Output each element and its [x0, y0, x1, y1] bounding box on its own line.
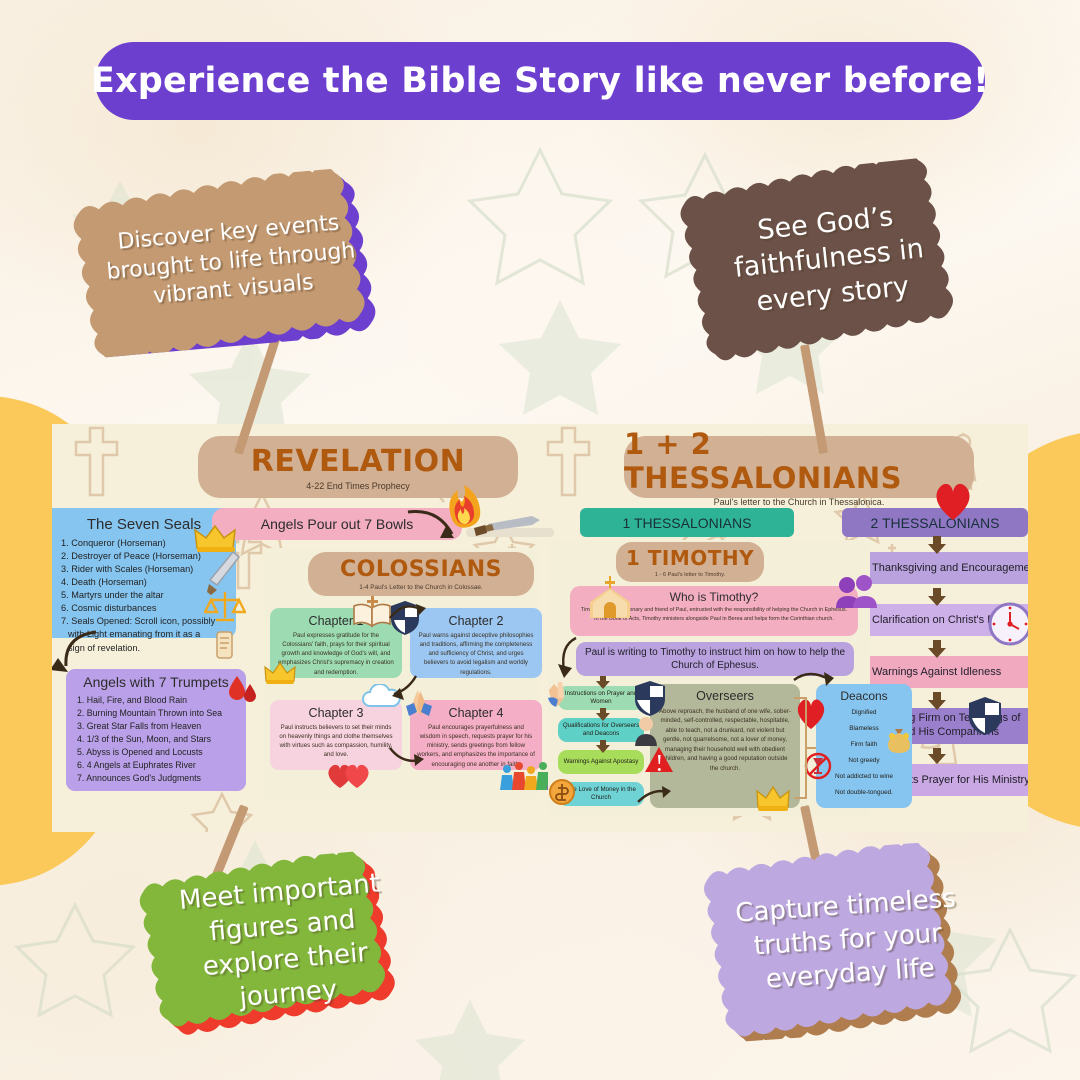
crown-icon [756, 786, 790, 812]
thess2-flow-arrows [924, 536, 950, 784]
arrow-overseers-to-deacons [792, 672, 840, 698]
list-item: Dignified [816, 705, 912, 721]
book-subtitle: Paul's letter to the Church in Thessalon… [714, 497, 885, 507]
person-icon [632, 716, 660, 746]
church-icon [588, 576, 632, 618]
timothy-section: 1 TIMOTHY 1 - 6 Paul's letter to Timothy… [548, 540, 870, 816]
seven-trumpets-list: 1. Hail, Fire, and Blood Rain 2. Burning… [66, 694, 246, 785]
bracket-connector [794, 692, 816, 804]
blood-drops-icon [228, 674, 258, 706]
headline-banner: Experience the Bible Story like never be… [95, 42, 985, 120]
book-subtitle: 1 - 6 Paul's letter to Timothy. [655, 572, 725, 578]
callout-text: Discover key events brought to life thro… [61, 164, 400, 360]
colossians-section: COLOSSIANS 1-4 Paul's Letter to the Chur… [264, 548, 540, 798]
arrow-ch3-to-ch4 [388, 744, 428, 770]
shield-icon [968, 696, 1002, 736]
book-title: 1 TIMOTHY [626, 546, 754, 570]
chapter-body: Paul instructs believers to set their mi… [270, 720, 402, 763]
timothy-purpose-panel: Paul is writing to Timothy to instruct h… [576, 642, 854, 676]
timothy-topic-arrows [594, 676, 612, 792]
callout-timeless: Capture timeless truths for your everyda… [694, 838, 1002, 1044]
book-header-timothy: 1 TIMOTHY 1 - 6 Paul's letter to Timothy… [616, 542, 764, 582]
crown-icon [264, 662, 296, 686]
callout-text: Capture timeless truths for your everyda… [694, 838, 1002, 1044]
book-title: COLOSSIANS [340, 557, 502, 582]
list-item: 5. Abyss is Opened and Locusts [77, 746, 246, 759]
people-group-icon [834, 574, 878, 608]
timothy-purpose-text: Paul is writing to Timothy to instruct h… [576, 646, 854, 672]
money-bag-icon [884, 724, 914, 754]
hands-icon [548, 680, 574, 708]
arrow-seals-to-trumpets [52, 630, 106, 684]
list-item: 2. Burning Mountain Thrown into Sea [77, 707, 246, 720]
book-title: REVELATION [251, 444, 466, 479]
warning-icon [644, 746, 674, 774]
arrow-purpose-down [556, 636, 582, 682]
list-item: Not double-tongued. [816, 785, 912, 801]
bible-book-icon [352, 596, 392, 630]
money-coin-icon [548, 778, 578, 806]
book-header-colossians: COLOSSIANS 1-4 Paul's Letter to the Chur… [308, 552, 534, 596]
hearts-icon [326, 760, 374, 790]
chapter-body: Paul warns against deceptive philosophie… [410, 628, 542, 680]
list-item: 4. 1/3 of the Sun, Moon, and Stars [77, 733, 246, 746]
callout-faithfulness: See God’s faithfulness in every story [669, 153, 988, 366]
book-subtitle: 4-22 End Times Prophecy [306, 481, 410, 491]
shield-icon [634, 680, 666, 718]
book-title: 1 + 2 THESSALONIANS [624, 427, 974, 495]
tab-1-thessalonians[interactable]: 1 THESSALONIANS [580, 508, 794, 537]
book-subtitle: 1-4 Paul's Letter to the Church in Colos… [359, 584, 482, 591]
list-item: 3. Great Star Falls from Heaven [77, 720, 246, 733]
book-header-thessalonians: 1 + 2 THESSALONIANS Paul's letter to the… [624, 436, 974, 498]
arrow-money-to-overseers [636, 784, 672, 808]
callout-text: Meet important figures and explore their… [129, 845, 439, 1042]
callout-discover: Discover key events brought to life thro… [61, 164, 400, 360]
seven-trumpets-panel: Angels with 7 Trumpets 1. Hail, Fire, an… [66, 669, 246, 791]
scales-icon [204, 590, 246, 624]
arrow-ch1-to-ch2 [388, 600, 432, 626]
item-label: Thanksgiving and Encouragement [872, 562, 1028, 574]
list-item: 6. 4 Angels at Euphrates River [77, 759, 246, 772]
heart-icon [932, 480, 974, 522]
headline-text: Experience the Bible Story like never be… [91, 61, 989, 101]
list-item: 1. Hail, Fire, and Blood Rain [77, 694, 246, 707]
overseers-title: Overseers [650, 689, 800, 703]
scroll-icon [210, 629, 240, 663]
tab-label: 1 THESSALONIANS [623, 515, 752, 531]
callout-text: See God’s faithfulness in every story [669, 153, 988, 366]
seven-bowls-label: Angels Pour out 7 Bowls [261, 516, 414, 532]
arrow-ch2-to-ch3 [386, 674, 422, 706]
infographic-poster: REVELATION 4-22 End Times Prophecy 1 + 2… [52, 424, 1028, 832]
callout-figures: Meet important figures and explore their… [129, 845, 439, 1042]
arrow-bowls-to-flame [406, 508, 466, 544]
list-item: 7. Announces God's Judgments [77, 772, 246, 785]
clock-icon [988, 602, 1028, 646]
